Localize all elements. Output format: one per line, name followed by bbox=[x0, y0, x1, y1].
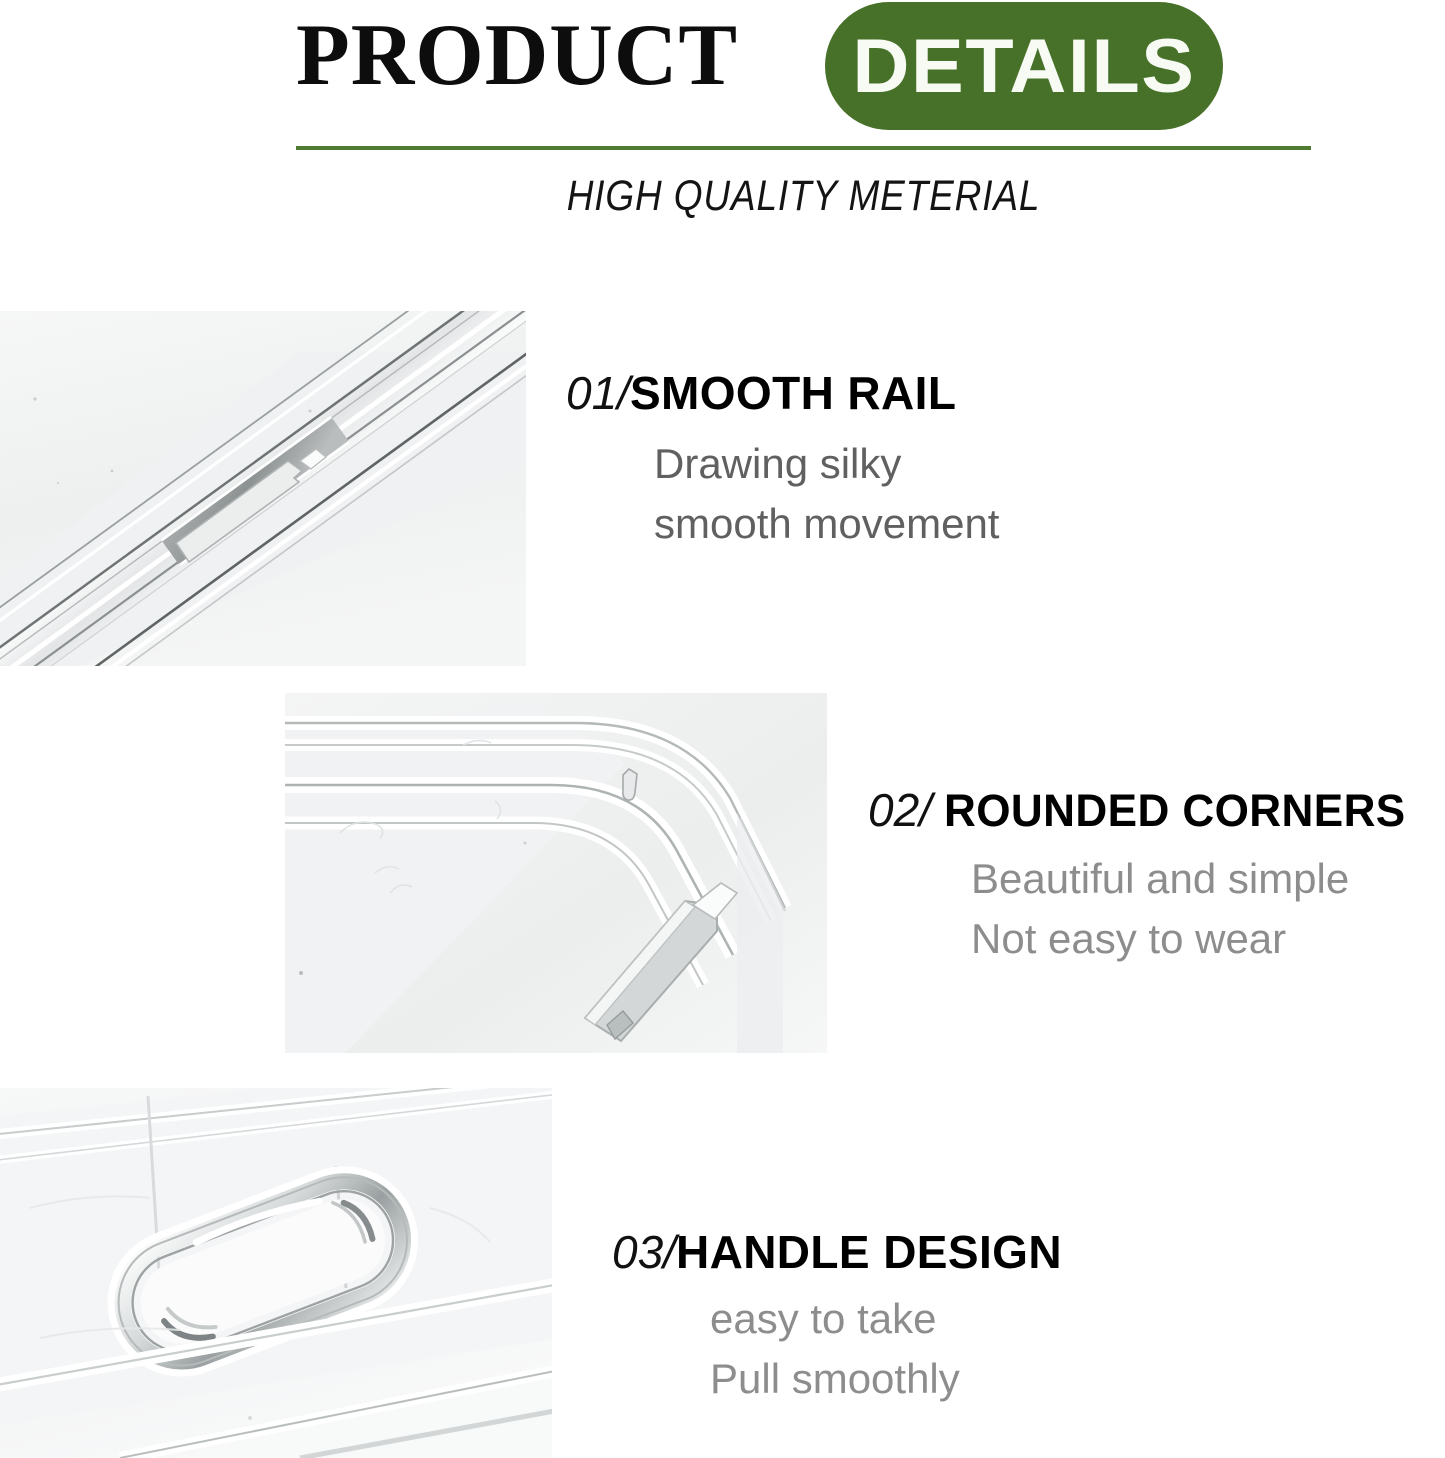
feature-heading: 03/ HANDLE DESIGN bbox=[612, 1229, 1172, 1275]
feature-description-line-1: easy to take bbox=[710, 1289, 1172, 1349]
feature-block-handle-design: 03/ HANDLE DESIGN easy to take Pull smoo… bbox=[612, 1229, 1172, 1409]
feature-title: HANDLE DESIGN bbox=[676, 1229, 1062, 1275]
feature-heading: 02/ ROUNDED CORNERS bbox=[868, 787, 1445, 833]
feature-number: 01/ bbox=[566, 370, 630, 416]
feature-description-line-2: Pull smoothly bbox=[710, 1349, 1172, 1409]
details-badge-label: DETAILS bbox=[817, 2, 1231, 130]
product-details-infographic: PRODUCT DETAILS HIGH QUALITY METERIAL bbox=[0, 0, 1445, 1458]
feature-title: ROUNDED CORNERS bbox=[944, 788, 1406, 833]
feature-title: SMOOTH RAIL bbox=[630, 370, 956, 416]
product-photo-smooth-rail bbox=[0, 311, 526, 666]
feature-description-line-1: Beautiful and simple bbox=[971, 849, 1445, 909]
feature-number: 02/ bbox=[868, 787, 932, 833]
feature-block-smooth-rail: 01/ SMOOTH RAIL Drawing silky smooth mov… bbox=[566, 370, 1186, 554]
product-photo-handle bbox=[0, 1088, 552, 1458]
page-title: PRODUCT DETAILS bbox=[296, 0, 1226, 134]
feature-number: 03/ bbox=[612, 1229, 676, 1275]
feature-heading: 01/ SMOOTH RAIL bbox=[566, 370, 1186, 416]
header-divider bbox=[296, 146, 1311, 150]
header-subtitle: HIGH QUALITY METERIAL bbox=[367, 172, 1240, 221]
feature-description-line-1: Drawing silky bbox=[654, 434, 1186, 494]
handle-illustration bbox=[0, 1088, 552, 1458]
feature-description-line-2: smooth movement bbox=[654, 494, 1186, 554]
product-photo-rounded-corner bbox=[285, 693, 827, 1053]
feature-block-rounded-corners: 02/ ROUNDED CORNERS Beautiful and simple… bbox=[868, 787, 1445, 969]
smooth-rail-illustration bbox=[0, 311, 526, 666]
feature-description-line-2: Not easy to wear bbox=[971, 909, 1445, 969]
title-word-product: PRODUCT bbox=[296, 6, 738, 106]
details-badge: DETAILS bbox=[825, 2, 1223, 130]
rounded-corner-illustration bbox=[285, 693, 827, 1053]
header: PRODUCT DETAILS HIGH QUALITY METERIAL bbox=[0, 0, 1445, 300]
